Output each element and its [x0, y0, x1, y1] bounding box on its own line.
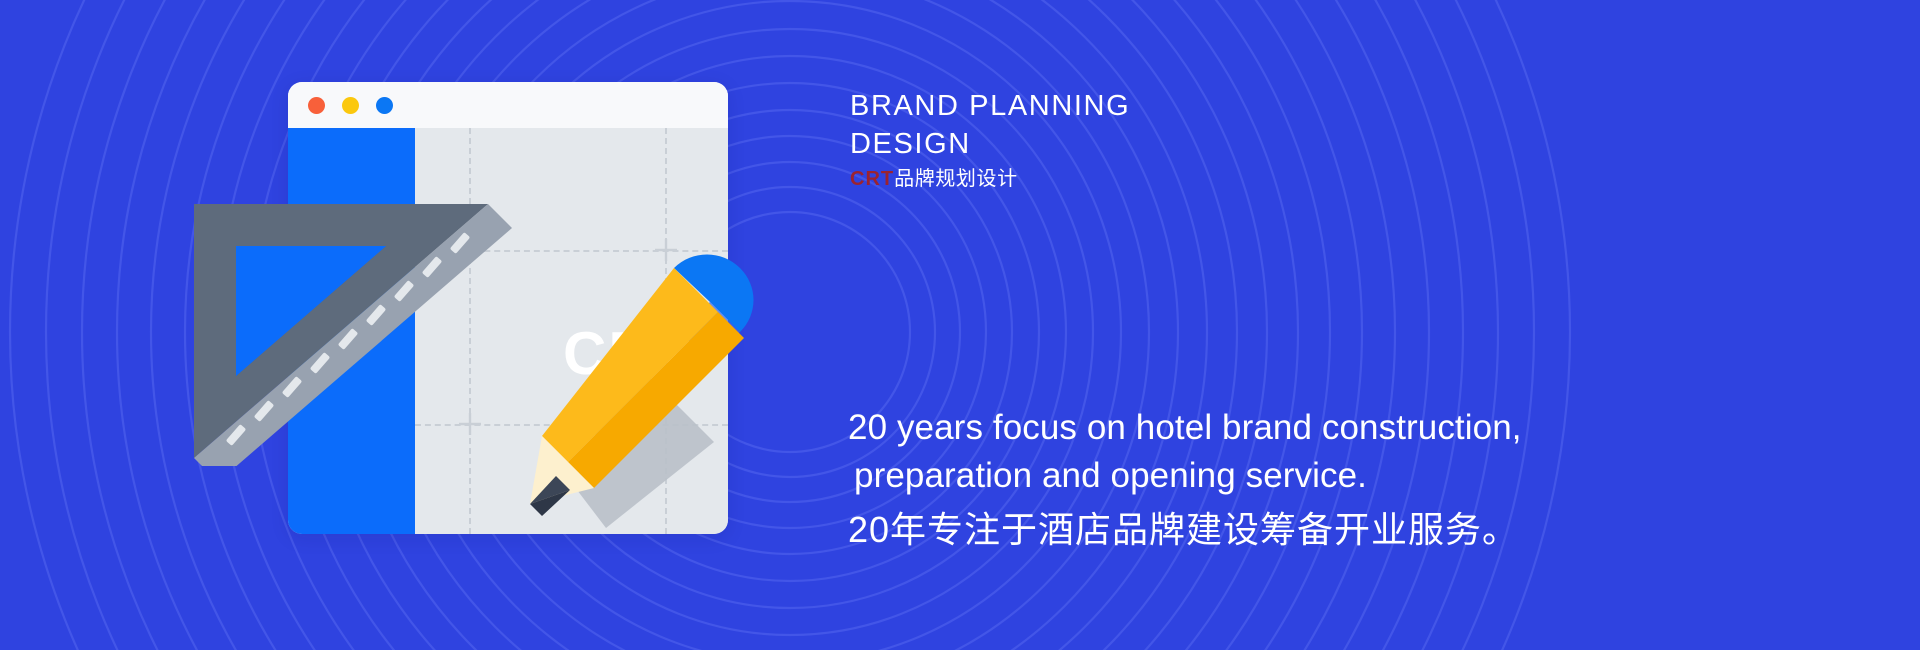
tagline-english-line-2: preparation and opening service.	[848, 452, 1522, 500]
tagline-english-line-1: 20 years focus on hotel brand constructi…	[848, 408, 1522, 447]
tagline-chinese: 20年专注于酒店品牌建设筹备开业服务。	[848, 506, 1519, 555]
tagline-english: 20 years focus on hotel brand constructi…	[848, 404, 1522, 499]
headline-line-2: DESIGN	[850, 126, 1130, 164]
brand-illustration: CRT	[228, 78, 788, 558]
subheading-brand: CRT	[850, 168, 894, 190]
set-square-ruler-icon	[188, 196, 528, 466]
page-title: BRAND PLANNING DESIGN	[850, 88, 1130, 163]
minimize-dot[interactable]	[342, 97, 359, 114]
close-dot[interactable]	[308, 97, 325, 114]
subheading-text: 品牌规划设计	[894, 168, 1018, 190]
window-titlebar	[288, 82, 728, 128]
maximize-dot[interactable]	[376, 97, 393, 114]
pencil-icon	[478, 228, 778, 548]
subheading: CRT品牌规划设计	[850, 166, 1018, 192]
headline-line-1: BRAND PLANNING	[850, 88, 1130, 126]
brand-banner: CRT	[0, 0, 1920, 650]
